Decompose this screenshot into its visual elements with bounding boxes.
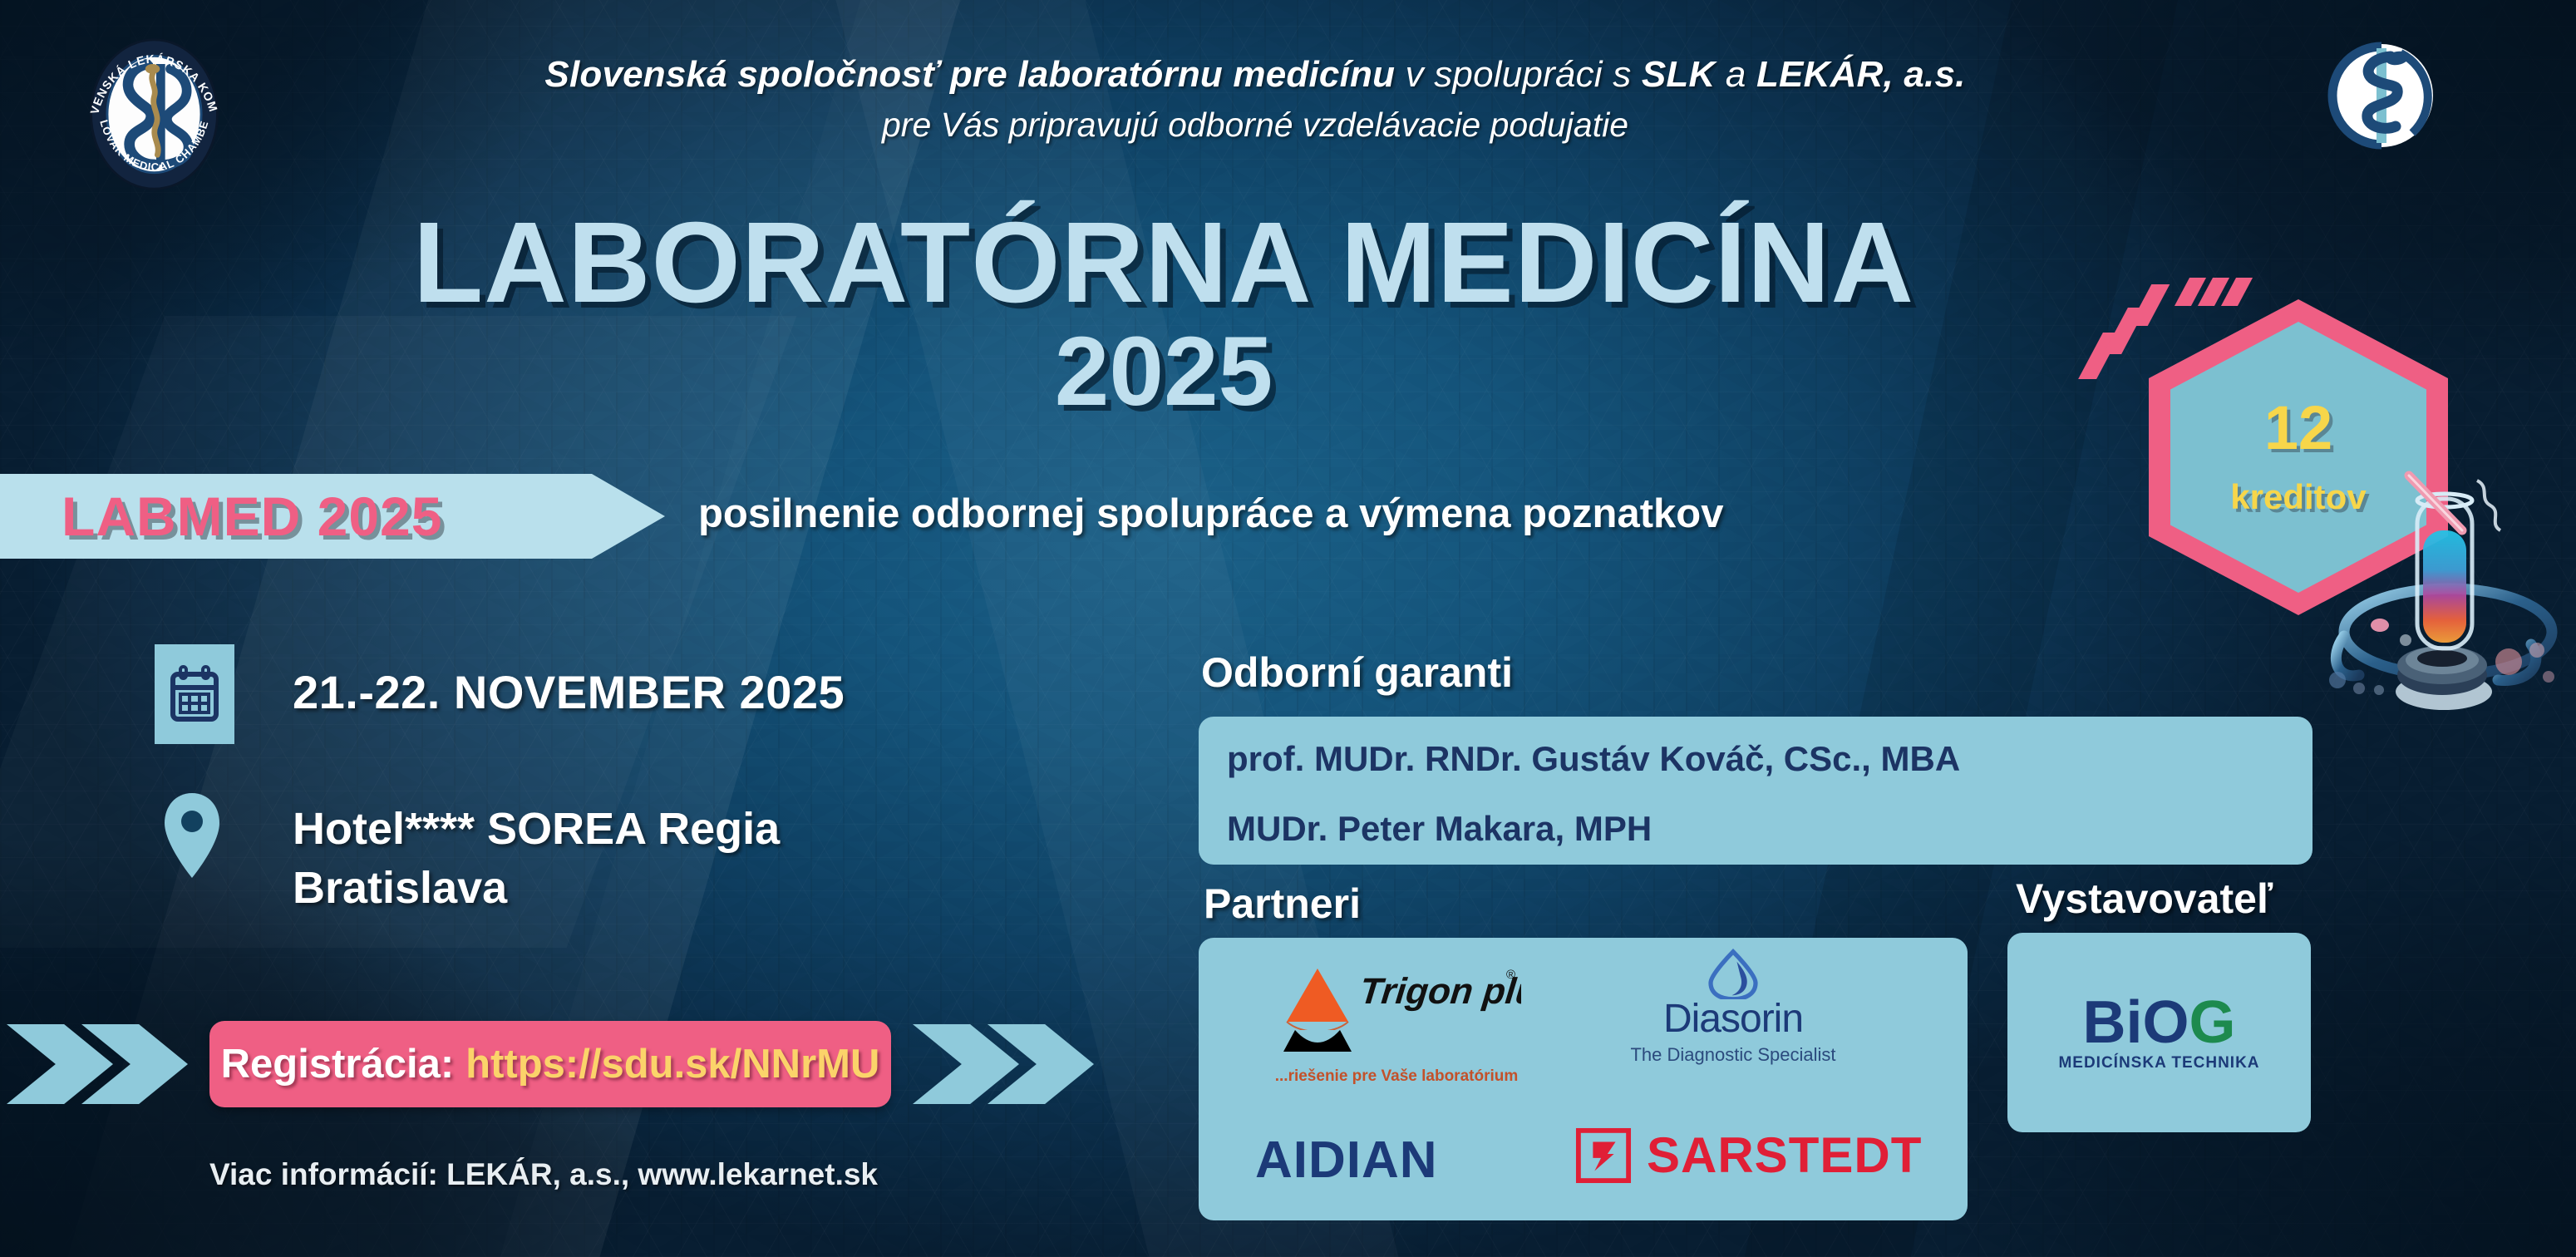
event-venue: Hotel**** SOREA Regia Bratislava bbox=[293, 800, 780, 919]
event-tagline: posilnenie odbornej spolupráce a výmena … bbox=[698, 490, 1723, 537]
aidian-logo: AIDIAN bbox=[1255, 1131, 1438, 1190]
exhibitor-heading: Vystavovateľ bbox=[2016, 875, 2273, 923]
trigon-plus-logo: Trigon plus ® ...riešenie pre Vaše labor… bbox=[1272, 960, 1521, 1089]
title-year: 2025 bbox=[249, 321, 2078, 424]
title-main: LABORATÓRNA MEDICÍNA bbox=[249, 208, 2078, 318]
slk-logo: SLOVENSKÁ LEKÁRSKA KOMORA ★ SLOVAK MEDIC… bbox=[73, 33, 235, 195]
registration-button[interactable]: Registrácia: https://sdu.sk/NNrMU bbox=[209, 1021, 891, 1107]
biog-part-2: G bbox=[2189, 989, 2235, 1056]
biog-part-1: BiO bbox=[2082, 989, 2189, 1056]
venue-line-1: Hotel**** SOREA Regia bbox=[293, 800, 780, 859]
labmed-badge: LABMED 2025 bbox=[0, 474, 665, 559]
guarantors-heading: Odborní garanti bbox=[1201, 648, 1513, 697]
labmed-badge-label: LABMED 2025 bbox=[62, 485, 442, 548]
diasorin-name: Diasorin bbox=[1608, 999, 1858, 1039]
exhibitor-box: BiOG MEDICÍNSKA TECHNIKA bbox=[2007, 933, 2311, 1132]
test-tube-illustration bbox=[2319, 466, 2576, 732]
biog-logo: BiOG MEDICÍNSKA TECHNIKA bbox=[2058, 993, 2259, 1072]
registration-label: Registrácia: bbox=[221, 1041, 455, 1087]
sslm-logo bbox=[2319, 33, 2444, 158]
partners-heading: Partneri bbox=[1204, 880, 1361, 928]
venue-line-2: Bratislava bbox=[293, 859, 780, 918]
registration-url[interactable]: https://sdu.sk/NNrMU bbox=[465, 1041, 879, 1087]
organizer-lekar: LEKÁR, a.s. bbox=[1756, 54, 1966, 95]
calendar-icon bbox=[155, 644, 234, 744]
organizer-conj-1: v spolupráci s bbox=[1395, 54, 1642, 95]
diasorin-tagline: The Diagnostic Specialist bbox=[1608, 1044, 1858, 1066]
organizer-society: Slovenská spoločnosť pre laboratórnu med… bbox=[544, 54, 1395, 95]
organizer-line-2: pre Vás pripravujú odborné vzdelávacie p… bbox=[465, 106, 2045, 145]
guarantor-name: prof. MUDr. RNDr. Gustáv Kováč, CSc., MB… bbox=[1227, 742, 2284, 776]
event-date: 21.-22. NOVEMBER 2025 bbox=[293, 665, 845, 719]
diasorin-logo: Diasorin The Diagnostic Specialist bbox=[1608, 948, 1858, 1089]
sarstedt-mark bbox=[1575, 1127, 1632, 1184]
sarstedt-logo: SARSTEDT bbox=[1575, 1126, 1922, 1184]
biog-subtitle: MEDICÍNSKA TECHNIKA bbox=[2058, 1054, 2259, 1072]
sarstedt-name: SARSTEDT bbox=[1647, 1126, 1922, 1184]
organizer-header: Slovenská spoločnosť pre laboratórnu med… bbox=[465, 52, 2045, 145]
location-pin-icon bbox=[163, 790, 221, 881]
more-info-text: Viac informácií: LEKÁR, a.s., www.lekarn… bbox=[209, 1157, 878, 1192]
page-title: LABORATÓRNA MEDICÍNA 2025 bbox=[249, 208, 2078, 424]
conference-banner: SLOVENSKÁ LEKÁRSKA KOMORA ★ SLOVAK MEDIC… bbox=[0, 0, 2576, 1257]
trigon-tagline: ...riešenie pre Vaše laboratórium bbox=[1272, 1067, 1521, 1086]
svg-text:®: ® bbox=[1506, 968, 1515, 982]
organizer-line-1: Slovenská spoločnosť pre laboratórnu med… bbox=[465, 52, 2045, 97]
guarantors-box: prof. MUDr. RNDr. Gustáv Kováč, CSc., MB… bbox=[1199, 717, 2312, 865]
svg-text:Trigon plus: Trigon plus bbox=[1357, 971, 1521, 1012]
credits-number: 12 bbox=[2264, 397, 2332, 459]
guarantor-name: MUDr. Peter Makara, MPH bbox=[1227, 811, 2284, 846]
organizer-slk: SLK bbox=[1642, 54, 1716, 95]
organizer-conj-2: a bbox=[1715, 54, 1756, 95]
biog-mark: BiOG bbox=[2058, 993, 2259, 1052]
